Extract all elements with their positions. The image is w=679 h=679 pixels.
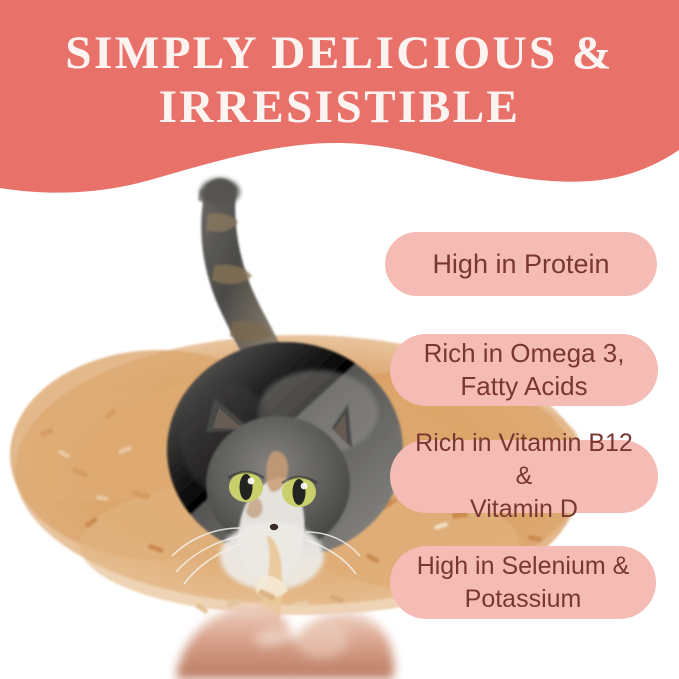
banner-title-line-2: IRRESISTIBLE [0, 80, 679, 134]
banner-title: SIMPLY DELICIOUS & IRRESISTIBLE [0, 26, 679, 134]
benefit-pill-high-in-protein[interactable]: High in Protein [385, 232, 657, 296]
benefit-pill-rich-in-omega-3[interactable]: Rich in Omega 3, Fatty Acids [390, 334, 658, 406]
benefit-line: Vitamin D [408, 493, 640, 526]
banner-title-line-1: SIMPLY DELICIOUS & [0, 26, 679, 80]
benefit-pill-rich-in-vitamin-b12-d[interactable]: Rich in Vitamin B12 & Vitamin D [390, 440, 658, 513]
benefit-line: Rich in Omega 3, [424, 337, 625, 370]
benefit-line: High in Selenium & [417, 550, 630, 583]
benefit-pill-text: High in Protein [432, 248, 609, 280]
benefit-pill-high-in-selenium-potassium[interactable]: High in Selenium & Potassium [390, 546, 656, 619]
benefit-line: Potassium [417, 583, 630, 616]
benefit-pill-text: High in Selenium & Potassium [417, 550, 630, 616]
benefit-line: High in Protein [432, 248, 609, 280]
benefit-line: Rich in Vitamin B12 & [408, 427, 640, 493]
benefit-pill-text: Rich in Omega 3, Fatty Acids [424, 337, 625, 403]
benefit-pill-text: Rich in Vitamin B12 & Vitamin D [408, 427, 640, 526]
product-feature-poster: SIMPLY DELICIOUS & IRRESISTIBLE High in … [0, 0, 679, 679]
benefit-line: Fatty Acids [424, 370, 625, 403]
